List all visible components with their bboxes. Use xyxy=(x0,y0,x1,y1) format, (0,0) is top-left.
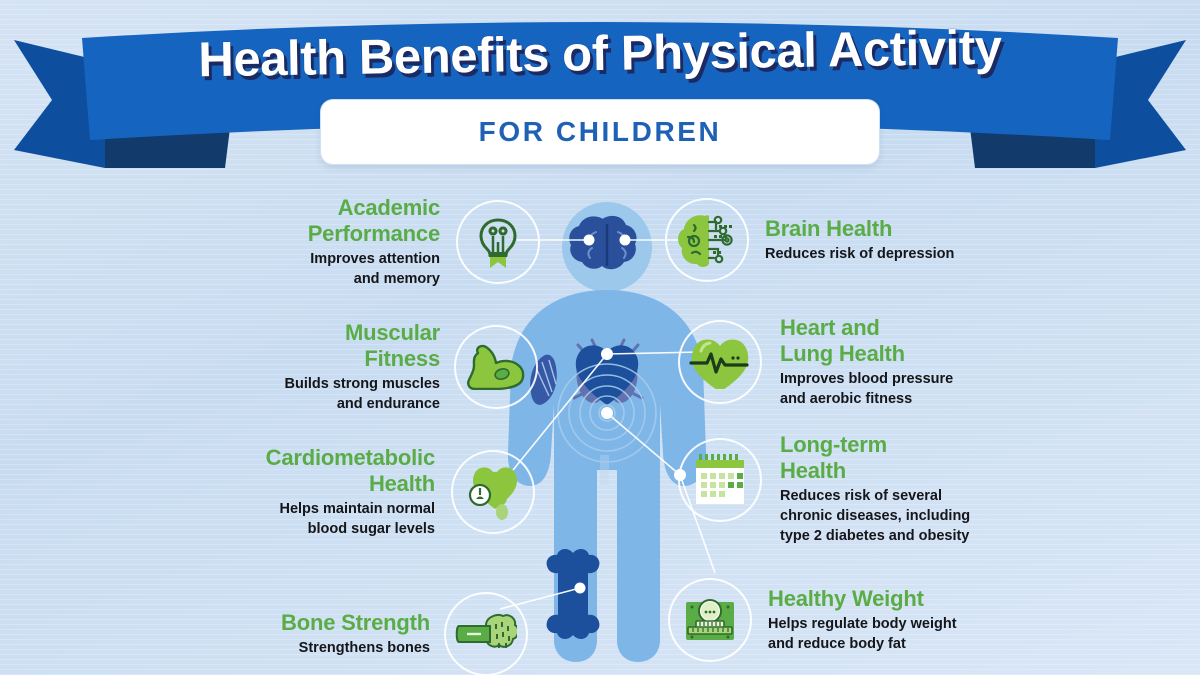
benefit-title-line1: Muscular xyxy=(345,320,440,345)
benefit-title-line1: Academic xyxy=(338,195,440,220)
calendar-icon[interactable] xyxy=(678,438,762,522)
benefit-healthy-weight[interactable]: Healthy Weight Helps regulate body weigh… xyxy=(668,578,1098,662)
flexed-bicep-icon[interactable] xyxy=(454,325,538,409)
benefit-desc-line2: and aerobic fitness xyxy=(780,391,912,407)
benefit-title-line1: Heart and xyxy=(780,315,880,340)
benefit-desc-line1: Improves attention xyxy=(310,251,440,267)
benefit-academic-performance[interactable]: Academic Performance Improves attention … xyxy=(250,195,540,289)
benefit-desc-line2: and endurance xyxy=(337,396,440,412)
benefit-desc-line1: Helps regulate body weight xyxy=(768,616,957,632)
benefit-bone-strength[interactable]: Bone Strength Strengthens bones xyxy=(215,592,540,675)
benefit-desc-line1: Helps maintain normal xyxy=(279,501,435,517)
benefit-muscular-fitness[interactable]: Muscular Fitness Builds strong muscles a… xyxy=(235,320,540,414)
lightbulb-icon[interactable] xyxy=(456,200,540,284)
benefit-desc-line1: Reduces risk of several xyxy=(780,488,942,504)
benefit-cardiometabolic-health[interactable]: Cardiometabolic Health Helps maintain no… xyxy=(185,445,540,539)
benefit-title-line2: Lung Health xyxy=(780,341,905,366)
benefit-title-line1: Cardiometabolic xyxy=(266,445,435,470)
benefit-brain-health[interactable]: Brain Health Reduces risk of depression xyxy=(665,198,1085,282)
bone-icon[interactable] xyxy=(444,592,528,675)
benefit-title-line2: Fitness xyxy=(364,346,440,371)
brain-circuit-icon[interactable] xyxy=(665,198,749,282)
benefit-desc-line1: Builds strong muscles xyxy=(284,376,440,392)
infographic-canvas: Health Benefits of Physical Activity FOR… xyxy=(0,0,1200,675)
benefit-title-line2: Health xyxy=(780,458,846,483)
benefit-long-term-health[interactable]: Long-term Health Reduces risk of several… xyxy=(678,432,1108,546)
benefit-desc-line2: and reduce body fat xyxy=(768,636,906,652)
benefit-title-line2: Health xyxy=(369,471,435,496)
benefit-desc-line2: blood sugar levels xyxy=(308,521,435,537)
heart-pulse-icon[interactable] xyxy=(678,320,762,404)
benefit-title-line1: Healthy Weight xyxy=(768,586,924,611)
benefit-title-line1: Long-term xyxy=(780,432,887,457)
benefit-title-line2: Performance xyxy=(308,221,440,246)
benefit-title-line1: Brain Health xyxy=(765,216,892,241)
benefit-desc-line1: Reduces risk of depression xyxy=(765,246,954,262)
weight-scale-icon[interactable] xyxy=(668,578,752,662)
benefit-heart-lung-health[interactable]: Heart and Lung Health Improves blood pre… xyxy=(678,315,1098,409)
benefit-title-line1: Bone Strength xyxy=(281,610,430,635)
heart-blood-pressure-icon[interactable] xyxy=(451,450,535,534)
benefit-desc-line2: chronic diseases, including xyxy=(780,508,970,524)
benefit-desc-line2: and memory xyxy=(354,271,440,287)
benefit-desc-line1: Improves blood pressure xyxy=(780,371,953,387)
benefit-desc-line3: type 2 diabetes and obesity xyxy=(780,528,969,544)
benefit-desc-line1: Strengthens bones xyxy=(299,640,430,656)
